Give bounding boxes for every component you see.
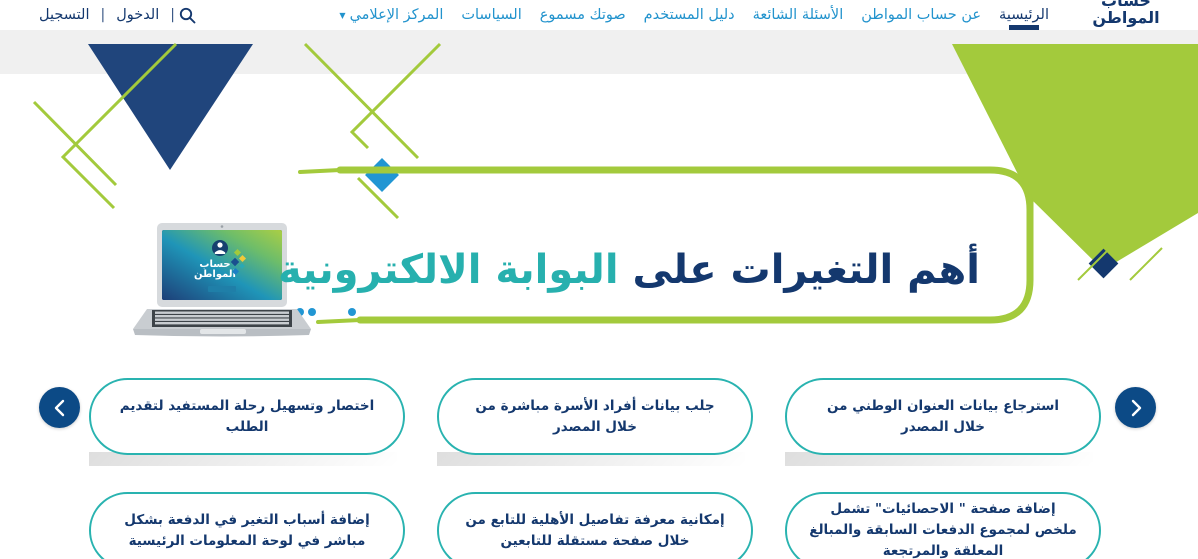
card-text: إمكانية معرفة تفاصيل الأهلية للتابع من خ… bbox=[461, 510, 729, 552]
card-text: استرجاع بيانات العنوان الوطني من خلال ال… bbox=[809, 396, 1077, 438]
card-family-data[interactable]: جلب بيانات أفراد الأسرة مباشرة من خلال ا… bbox=[437, 378, 753, 455]
card-text: جلب بيانات أفراد الأسرة مباشرة من خلال ا… bbox=[461, 396, 729, 438]
dot-decoration bbox=[348, 308, 356, 316]
active-indicator bbox=[1009, 25, 1039, 30]
nav-item-label: المركز الإعلامي bbox=[350, 7, 444, 23]
nav-item-label: الأسئلة الشائعة bbox=[753, 7, 844, 23]
register-link[interactable]: التسجيل bbox=[28, 7, 100, 23]
hero-heading-part2: البوابة الالكترونية bbox=[278, 247, 619, 293]
nav-menu: الرئيسية عن حساب المواطن الأسئلة الشائعة… bbox=[330, 0, 1058, 30]
nav-item-media-center[interactable]: المركز الإعلامي ▼ bbox=[330, 0, 452, 30]
card-payment-change-reasons[interactable]: إضافة أسباب التغير في الدفعة بشكل مباشر … bbox=[89, 492, 405, 559]
lime-rounded-frame-top bbox=[340, 170, 1030, 210]
carousel-next-button[interactable] bbox=[1115, 387, 1156, 428]
card-beneficiary-journey[interactable]: اختصار وتسهيل رحلة المستفيد لتقديم الطلب bbox=[89, 378, 405, 455]
card-text: اختصار وتسهيل رحلة المستفيد لتقديم الطلب bbox=[113, 396, 381, 438]
nav-item-label: صوتك مسموع bbox=[540, 7, 626, 23]
changes-carousel: استرجاع بيانات العنوان الوطني من خلال ال… bbox=[0, 340, 1198, 559]
hero-heading: أهم التغيرات على البوابة الالكترونية bbox=[278, 248, 980, 292]
chevron-right-icon bbox=[1129, 399, 1143, 417]
top-navigation-bar: حساب المواطن الرئيسية عن حساب المواطن ال… bbox=[0, 0, 1198, 30]
lime-thin-line-2 bbox=[1130, 248, 1162, 280]
lime-taper-top bbox=[300, 170, 340, 172]
nav-item-label: السياسات bbox=[461, 7, 521, 23]
lime-pentagon-decoration bbox=[952, 44, 1198, 270]
nav-item-policies[interactable]: السياسات bbox=[452, 0, 530, 30]
login-link[interactable]: الدخول bbox=[105, 7, 170, 23]
chevron-left-icon bbox=[53, 399, 67, 417]
nav-item-your-voice[interactable]: صوتك مسموع bbox=[531, 0, 635, 30]
search-icon[interactable] bbox=[177, 4, 199, 26]
lime-diagonal-2 bbox=[352, 44, 440, 148]
card-grid: استرجاع بيانات العنوان الوطني من خلال ال… bbox=[0, 340, 1198, 559]
card-text: إضافة صفحة " الاحصائيات" تشمل ملخص لمجمو… bbox=[809, 499, 1077, 559]
hero-heading-part1: أهم التغيرات على bbox=[619, 247, 980, 293]
card-dependent-eligibility[interactable]: إمكانية معرفة تفاصيل الأهلية للتابع من خ… bbox=[437, 492, 753, 559]
nav-item-about[interactable]: عن حساب المواطن bbox=[852, 0, 990, 30]
card-text: إضافة أسباب التغير في الدفعة بشكل مباشر … bbox=[113, 510, 381, 552]
nav-item-user-guide[interactable]: دليل المستخدم bbox=[635, 0, 744, 30]
card-national-address[interactable]: استرجاع بيانات العنوان الوطني من خلال ال… bbox=[785, 378, 1101, 455]
page-root: حساب المواطن الرئيسية عن حساب المواطن ال… bbox=[0, 0, 1198, 559]
chevron-down-icon: ▼ bbox=[339, 12, 345, 20]
card-statistics-page[interactable]: إضافة صفحة " الاحصائيات" تشمل ملخص لمجمو… bbox=[785, 492, 1101, 559]
nav-item-home[interactable]: الرئيسية bbox=[990, 0, 1058, 30]
divider: | bbox=[100, 7, 105, 23]
svg-text:المواطن: المواطن bbox=[194, 269, 236, 280]
lime-taper-bottom bbox=[318, 320, 360, 322]
nav-item-label: عن حساب المواطن bbox=[861, 7, 981, 23]
nav-item-label: دليل المستخدم bbox=[644, 7, 735, 23]
nav-item-faq[interactable]: الأسئلة الشائعة bbox=[744, 0, 853, 30]
nav-item-label: الرئيسية bbox=[999, 7, 1049, 23]
logo-text-line2: المواطن bbox=[1068, 10, 1184, 26]
divider: | bbox=[170, 7, 175, 23]
blue-diamond-decoration bbox=[365, 158, 399, 192]
hero-banner: حساب المواطن أهم التغيرات على البواب bbox=[0, 30, 1198, 340]
auth-area: | الدخول | التسجيل bbox=[28, 0, 207, 30]
site-logo[interactable]: حساب المواطن bbox=[1068, 0, 1184, 36]
carousel-prev-button[interactable] bbox=[39, 387, 80, 428]
